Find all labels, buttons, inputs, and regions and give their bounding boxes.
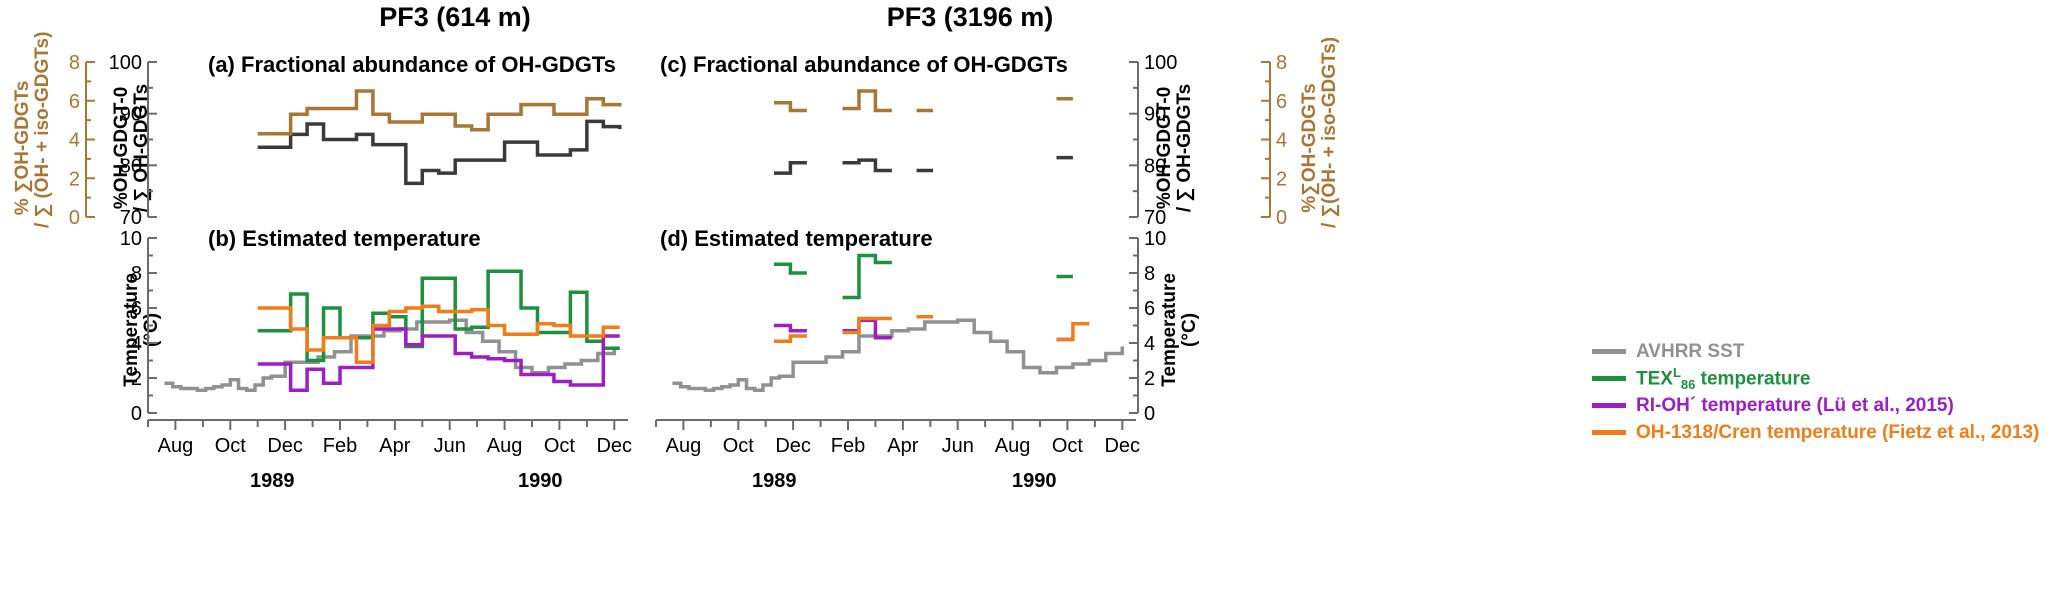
x-axis-left-tick-oct-7: Oct xyxy=(544,435,576,457)
temp-axis-label-right: Temperature (°C) xyxy=(1160,255,1200,405)
year-label-right-1990: 1990 xyxy=(1012,470,1057,493)
figure-root: PF3 (614 m) PF3 (3196 m) % ∑OH-GDGTs / ∑… xyxy=(0,0,2067,602)
year-label-left-1989: 1989 xyxy=(250,470,295,493)
svg-text:8: 8 xyxy=(69,52,80,74)
x-axis-left: AugOctDecFebAprJunAugOctDec xyxy=(148,418,628,464)
year-label-left-1990: 1990 xyxy=(518,470,563,493)
svg-text:100: 100 xyxy=(1144,52,1177,74)
svg-text:2: 2 xyxy=(131,368,142,390)
svg-text:4: 4 xyxy=(1276,130,1287,152)
svg-text:2: 2 xyxy=(1144,368,1155,390)
x-axis-right-tick-feb-3: Feb xyxy=(831,435,865,457)
panel-d-chart xyxy=(656,238,1136,418)
svg-text:8: 8 xyxy=(131,263,142,285)
legend-oh1318-cren: OH-1318/Cren temperature (Fietz et al., … xyxy=(1592,419,2039,446)
svg-text:2: 2 xyxy=(1276,168,1287,190)
legend-avhrr-sst-swatch xyxy=(1592,349,1626,354)
black-axis-label-right: %OH-GDGT-0 / ∑ OH-GDGTs xyxy=(1155,73,1195,223)
panel-d-series-0 xyxy=(672,320,1122,390)
x-axis-right-tick-dec-8: Dec xyxy=(1104,435,1140,457)
panel-c-series-1 xyxy=(843,91,892,110)
svg-text:90: 90 xyxy=(120,104,142,126)
x-axis-right-tick-aug-0: Aug xyxy=(666,435,702,457)
x-axis-right-tick-oct-7: Oct xyxy=(1052,435,1084,457)
svg-text:8: 8 xyxy=(1144,263,1155,285)
svg-text:10: 10 xyxy=(1144,228,1166,250)
x-axis-left-tick-feb-3: Feb xyxy=(323,435,357,457)
panel-c-series-1 xyxy=(774,103,807,111)
x-axis-left-tick-aug-0: Aug xyxy=(158,435,194,457)
x-axis-left-tick-dec-2: Dec xyxy=(267,435,303,457)
svg-text:70: 70 xyxy=(120,207,142,229)
x-axis-left-tick-apr-4: Apr xyxy=(379,435,410,457)
legend-ri-oh: RI-OH´ temperature (Lü et al., 2015) xyxy=(1592,392,2039,419)
panel-a-chart: 100908070 xyxy=(148,62,628,222)
column-title-left: PF3 (614 m) xyxy=(325,2,585,33)
brown-axis-label-right: %∑OH-GDGTs / ∑(OH- + iso-GDGTs) xyxy=(1300,68,1340,228)
panel-d-series-3 xyxy=(1056,324,1089,340)
legend-ri-oh-label: RI-OH´ temperature (Lü et al., 2015) xyxy=(1636,395,1954,417)
panel-a-brown-series xyxy=(258,91,620,134)
x-axis-right-tick-oct-1: Oct xyxy=(723,435,755,457)
svg-text:0: 0 xyxy=(131,403,142,425)
legend-oh1318-cren-swatch xyxy=(1592,430,1626,435)
panel-b-series-1 xyxy=(258,271,620,360)
year-label-right-1989: 1989 xyxy=(752,470,797,493)
svg-text:10: 10 xyxy=(120,228,142,250)
legend: AVHRR SSTTEXL86 temperatureRI-OH´ temper… xyxy=(1592,338,2039,446)
x-axis-left-tick-aug-6: Aug xyxy=(487,435,523,457)
legend-avhrr-sst: AVHRR SST xyxy=(1592,338,2039,365)
legend-texl86: TEXL86 temperature xyxy=(1592,365,2039,392)
svg-text:2: 2 xyxy=(69,168,80,190)
black-axis-label-left: %OH-GDGT-0 / ∑ OH-GDGTs xyxy=(112,73,152,223)
panel-c-chart xyxy=(656,62,1136,222)
svg-text:6: 6 xyxy=(69,91,80,113)
svg-text:0: 0 xyxy=(1144,403,1155,425)
svg-text:100: 100 xyxy=(109,52,142,74)
panel-a-black-series xyxy=(258,121,620,183)
legend-oh1318-cren-label: OH-1318/Cren temperature (Fietz et al., … xyxy=(1636,422,2039,444)
x-axis-left-tick-jun-5: Jun xyxy=(434,435,466,457)
x-axis-right-tick-jun-5: Jun xyxy=(942,435,974,457)
panel-c-series-0 xyxy=(843,160,892,170)
x-axis-right: AugOctDecFebAprJunAugOctDec xyxy=(656,418,1136,464)
svg-text:0: 0 xyxy=(69,207,80,229)
svg-text:80: 80 xyxy=(120,155,142,177)
legend-texl86-label: TEXL86 temperature xyxy=(1636,365,1810,392)
svg-text:4: 4 xyxy=(1144,333,1155,355)
svg-text:6: 6 xyxy=(1276,91,1287,113)
panel-b-chart: 1086420 xyxy=(148,238,628,418)
svg-text:6: 6 xyxy=(131,298,142,320)
svg-text:4: 4 xyxy=(131,333,142,355)
svg-text:0: 0 xyxy=(1276,207,1287,229)
x-axis-left-tick-dec-8: Dec xyxy=(596,435,632,457)
brown-axis-left-ticks: 86420 xyxy=(28,62,98,222)
legend-ri-oh-swatch xyxy=(1592,403,1626,408)
panel-d-series-2 xyxy=(774,326,807,331)
x-axis-right-tick-aug-6: Aug xyxy=(995,435,1031,457)
x-axis-left-tick-oct-1: Oct xyxy=(215,435,247,457)
column-title-right: PF3 (3196 m) xyxy=(770,2,1170,33)
x-axis-right-tick-dec-2: Dec xyxy=(775,435,811,457)
panel-c-series-0 xyxy=(774,163,807,173)
svg-text:6: 6 xyxy=(1144,298,1155,320)
panel-d-series-1 xyxy=(843,256,892,298)
panel-d-series-1 xyxy=(774,264,807,273)
panel-d-series-3 xyxy=(774,336,807,341)
svg-text:8: 8 xyxy=(1276,52,1287,74)
x-axis-right-tick-apr-4: Apr xyxy=(887,435,918,457)
legend-texl86-swatch xyxy=(1592,376,1626,381)
legend-avhrr-sst-label: AVHRR SST xyxy=(1636,341,1744,363)
svg-text:4: 4 xyxy=(69,130,80,152)
